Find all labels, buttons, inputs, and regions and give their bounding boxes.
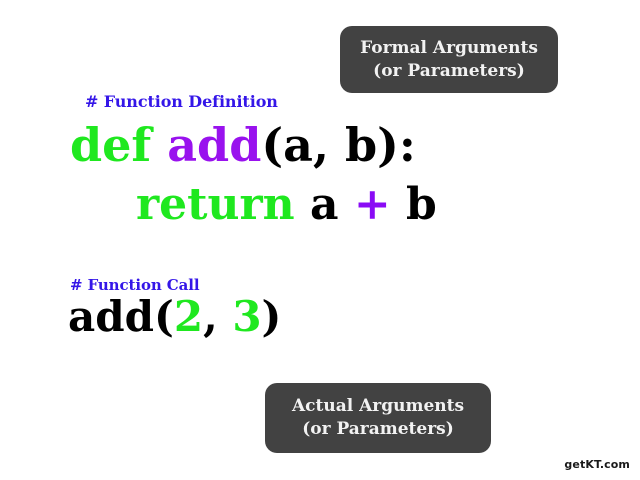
token-call-function-name: add xyxy=(68,292,154,341)
token-call-open-paren: ( xyxy=(154,292,174,341)
token-argument-2: 2 xyxy=(174,292,203,341)
callout-formal-box: Formal Arguments (or Parameters) xyxy=(340,26,558,93)
code-line-call: add(2, 3) xyxy=(68,296,281,338)
callout-actual-label: Actual Arguments (or Parameters) xyxy=(278,395,478,441)
token-keyword-def: def xyxy=(70,118,167,172)
token-operand-b: b xyxy=(391,179,437,230)
token-operand-a: a xyxy=(310,179,354,230)
callout-formal-label: Formal Arguments (or Parameters) xyxy=(346,37,552,83)
token-operator-plus: + xyxy=(354,179,391,230)
slide-canvas: # Function Definition def add(a, b): ret… xyxy=(0,0,640,480)
token-formal-parameters: (a, b): xyxy=(261,118,416,172)
code-line-return: return a + b xyxy=(136,183,437,227)
token-keyword-return: return xyxy=(136,179,310,230)
comment-function-definition: # Function Definition xyxy=(85,92,278,111)
watermark-getkt: getKT.com xyxy=(564,458,630,471)
token-argument-separator: , xyxy=(203,292,232,341)
token-function-name-add: add xyxy=(167,118,261,172)
token-call-close-paren: ) xyxy=(262,292,282,341)
callout-actual-box: Actual Arguments (or Parameters) xyxy=(265,383,491,453)
token-argument-3: 3 xyxy=(232,292,261,341)
code-line-def: def add(a, b): xyxy=(70,122,416,168)
